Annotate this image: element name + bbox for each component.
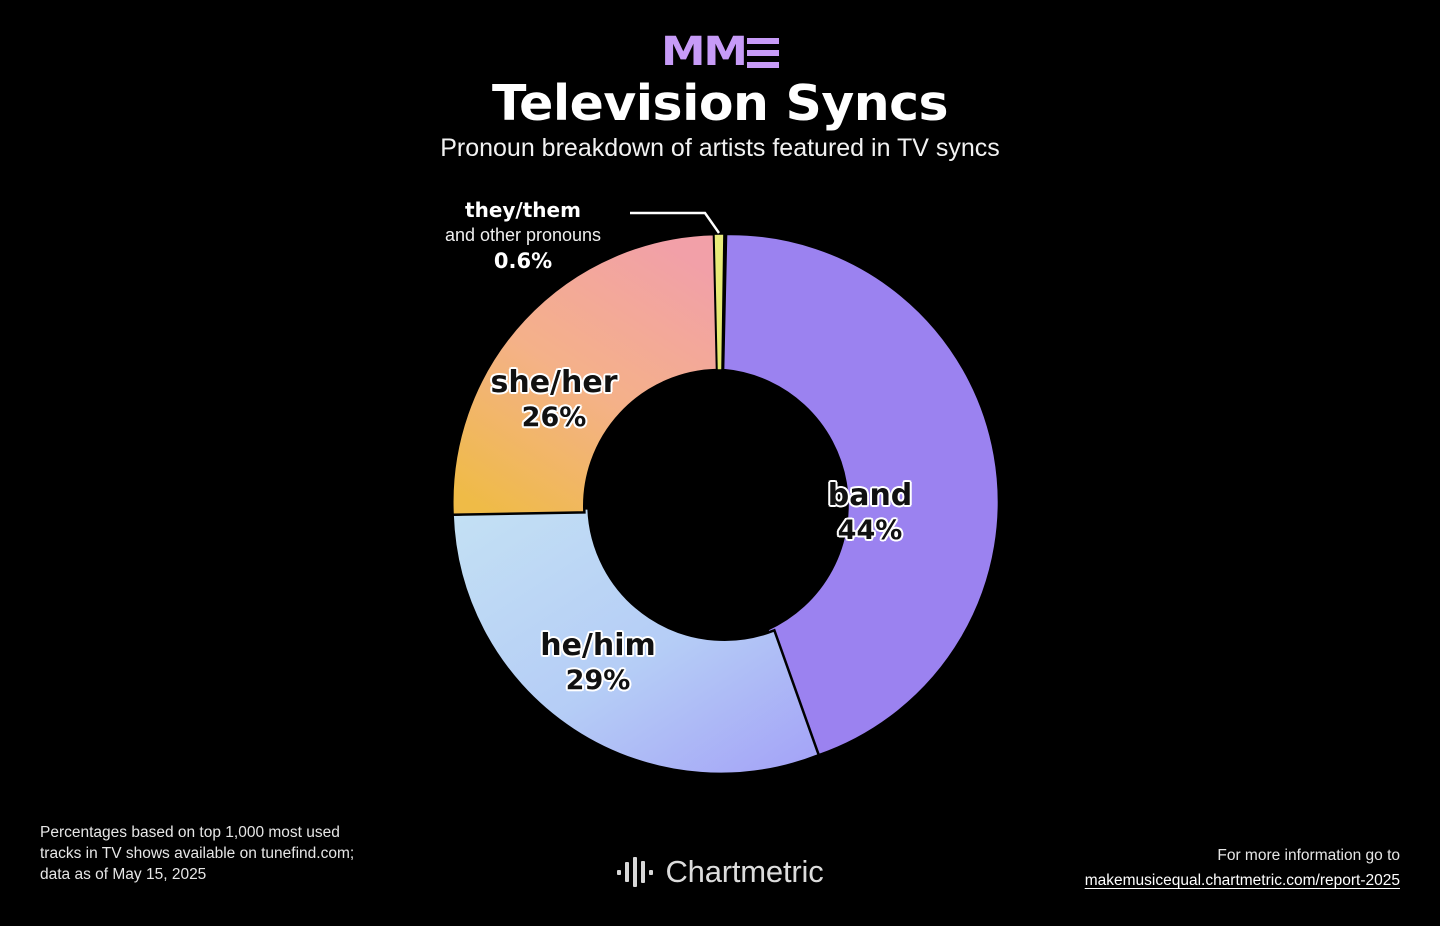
- slice-callout-they-them: they/them and other pronouns 0.6%: [398, 198, 648, 275]
- donut-chart: band 44% he/him 29% she/her 26% they/the…: [0, 0, 1440, 926]
- donut-slice-he-him[interactable]: [453, 508, 819, 774]
- footnote-line-1: Percentages based on top 1,000 most used: [40, 822, 440, 843]
- chartmetric-brand-name: Chartmetric: [666, 855, 824, 889]
- donut-slice-she-her[interactable]: [452, 234, 717, 515]
- more-info-label: For more information go to: [940, 843, 1400, 868]
- slice-callout-they-them-name: they/them: [398, 198, 648, 223]
- slice-callout-they-them-percent: 0.6%: [398, 248, 648, 275]
- slice-callout-they-them-sublabel: and other pronouns: [398, 223, 648, 247]
- donut-chart-svg: [0, 0, 1440, 926]
- waveform-icon: [617, 855, 653, 889]
- more-info-link[interactable]: makemusicequal.chartmetric.com/report-20…: [940, 868, 1400, 893]
- more-info: For more information go to makemusicequa…: [940, 843, 1400, 893]
